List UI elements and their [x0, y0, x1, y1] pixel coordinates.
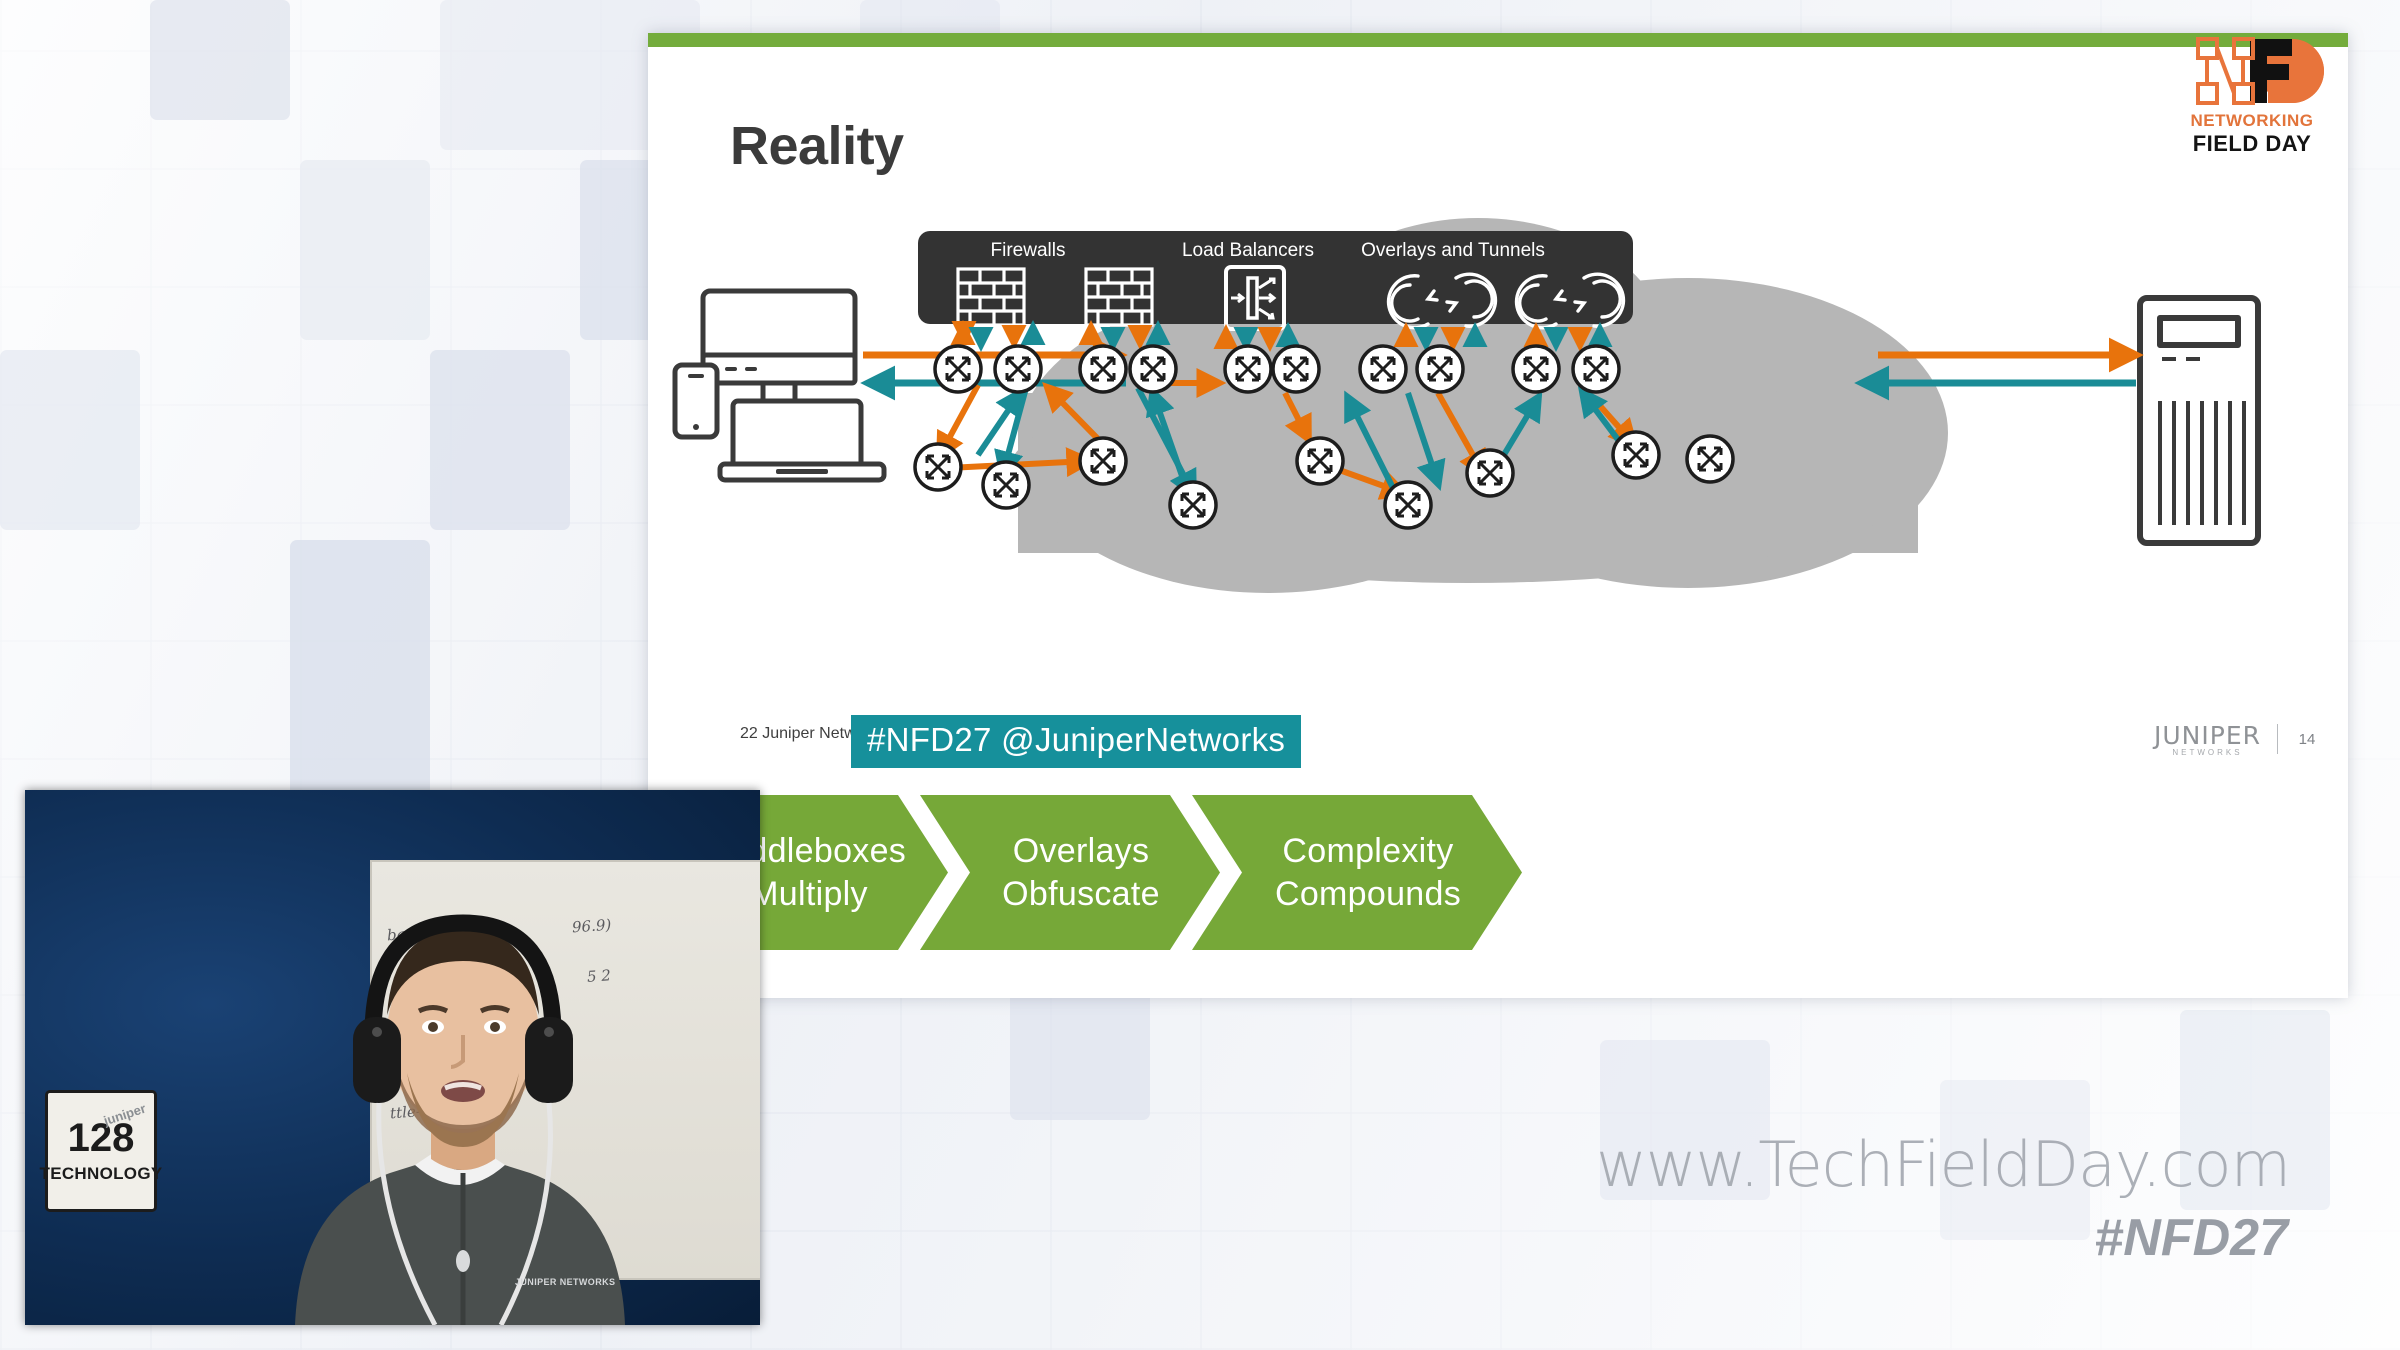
presenter-person	[255, 895, 685, 1325]
hashtag-banner: #NFD27 @JuniperNetworks	[851, 715, 1301, 768]
bg-tile	[0, 350, 140, 530]
bg-tile	[430, 350, 570, 530]
bg-tile	[150, 0, 290, 120]
router-four-way-arrows-icon	[1467, 450, 1513, 496]
slide-top-accent-bar	[648, 33, 2348, 47]
router-four-way-arrows-icon	[1360, 346, 1406, 392]
jacket-embroidered-logo: JUNIPER NETWORKS	[515, 1277, 615, 1287]
router-four-way-arrows-icon	[1417, 346, 1463, 392]
techfieldday-watermark-hashtag: #NFD27	[2094, 1208, 2288, 1268]
sign-number: 128	[68, 1118, 135, 1158]
router-four-way-arrows-icon	[1613, 432, 1659, 478]
chevron-2: Complexity Compounds	[1192, 795, 1522, 950]
router-four-way-arrows-icon	[1687, 436, 1733, 482]
router-four-way-arrows-icon	[935, 346, 981, 392]
router-four-way-arrows-icon	[983, 462, 1029, 508]
laptop-trackpad	[776, 469, 828, 474]
router-four-way-arrows-icon	[1273, 346, 1319, 392]
presentation-slide: Reality NETWORKING FIELD DAY	[648, 33, 2348, 998]
router-four-way-arrows-icon	[1080, 346, 1126, 392]
group-label-load-balancers: Load Balancers	[1182, 240, 1314, 261]
router-four-way-arrows-icon	[1080, 438, 1126, 484]
chevron-1: Overlays Obfuscate	[920, 795, 1220, 950]
router-four-way-arrows-icon	[1130, 346, 1176, 392]
router-four-way-arrows-icon	[1297, 438, 1343, 484]
networking-field-day-logo: NETWORKING FIELD DAY	[2176, 31, 2328, 159]
juniper-wordmark: JUNIPER	[2154, 721, 2261, 750]
chevron-2-line2: Compounds	[1275, 873, 1461, 916]
footer-divider	[2277, 724, 2278, 754]
nfd-logo-line1: NETWORKING	[2186, 111, 2318, 131]
router-four-way-arrows-icon	[1573, 346, 1619, 392]
bg-tile	[300, 160, 430, 340]
router-four-way-arrows-icon	[1170, 482, 1216, 528]
juniper-branding: JUNIPER NETWORKS 14	[2154, 721, 2320, 757]
router-four-way-arrows-icon	[1225, 346, 1271, 392]
sign-label: TECHNOLOGY	[40, 1164, 163, 1184]
router-four-way-arrows-icon	[1513, 346, 1559, 392]
network-complexity-diagram: Firewalls Load Balancers Overlays and Tu…	[648, 143, 2348, 763]
endpoint-desktop-monitor-icon	[703, 291, 855, 413]
router-four-way-arrows-icon	[995, 346, 1041, 392]
juniper-128-technology-sign: juniper 128 TECHNOLOGY	[45, 1090, 157, 1212]
chevron-2-line1: Complexity	[1275, 830, 1461, 873]
group-label-overlays-tunnels: Overlays and Tunnels	[1361, 240, 1545, 261]
chevron-1-line1: Overlays	[1002, 830, 1160, 873]
router-four-way-arrows-icon	[915, 444, 961, 490]
router-four-way-arrows-icon	[1385, 482, 1431, 528]
chevron-1-line2: Obfuscate	[1002, 873, 1160, 916]
endpoint-laptop-icon	[720, 401, 884, 480]
group-label-firewalls: Firewalls	[991, 240, 1066, 261]
juniper-logo: JUNIPER NETWORKS	[2154, 721, 2261, 757]
presenter-webcam-overlay[interactable]: 96.9) 5 2 bandw-el cor ttle-edge juniper…	[25, 790, 760, 1325]
endpoint-server-tower-icon	[2140, 298, 2258, 543]
slide-page-number: 14	[2294, 731, 2320, 748]
techfieldday-watermark-url: www.TechFieldDay.com	[1596, 1128, 2290, 1201]
